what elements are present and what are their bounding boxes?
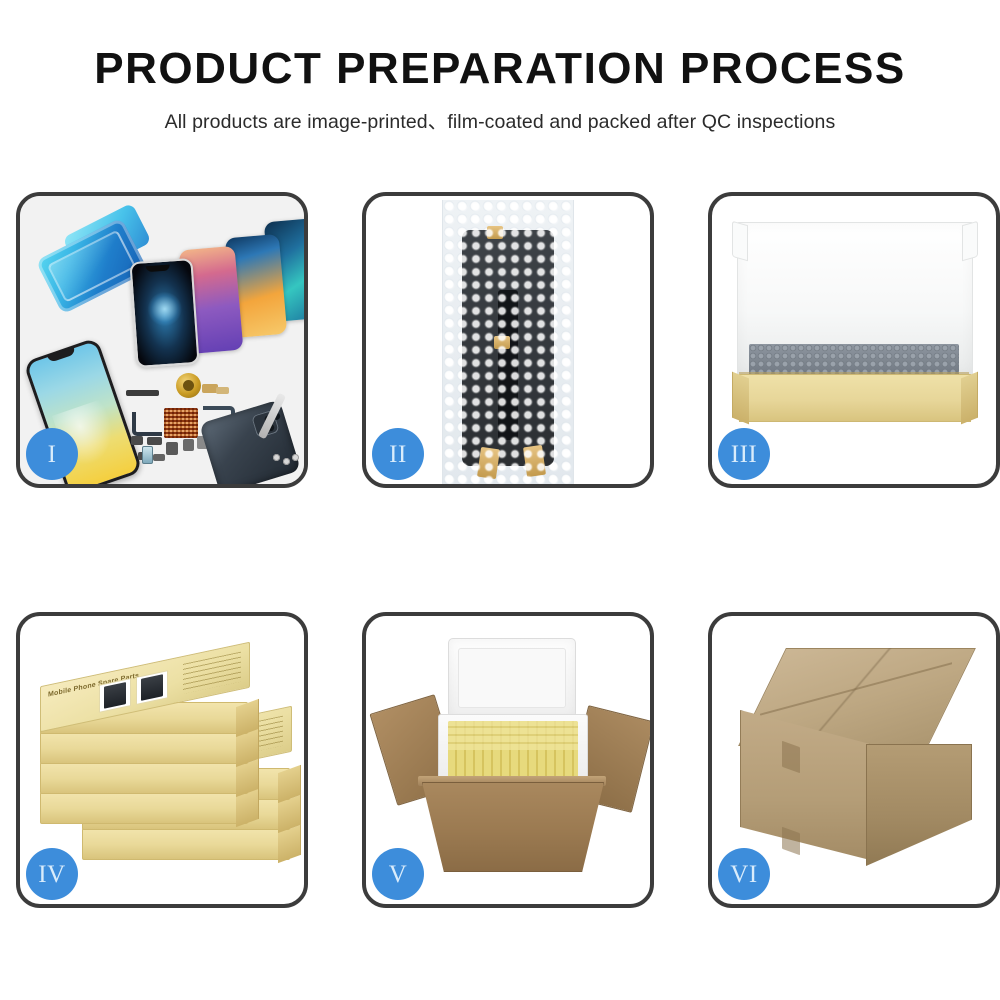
screws-group-icon [273, 454, 299, 466]
step-badge-1: I [26, 428, 78, 480]
gold-contact-icon [216, 387, 229, 394]
camera-lens-icon [142, 446, 153, 464]
stack-box-front-3 [40, 762, 248, 794]
stacked-boxes: Mobile Phone Spare Parts Mobile Phone Sp… [36, 650, 294, 876]
carton-side-face [866, 744, 972, 866]
page-title: PRODUCT PREPARATION PROCESS [0, 46, 1000, 92]
header: PRODUCT PREPARATION PROCESS All products… [0, 46, 1000, 134]
bubble-wrap-sleeve [442, 200, 574, 484]
small-component-7 [153, 454, 165, 461]
bubble-wrap-gloss [443, 200, 573, 484]
step-badge-2: II [372, 428, 424, 480]
step-badge-6: VI [718, 848, 770, 900]
page-subtitle: All products are image-printed、film-coat… [0, 105, 1000, 134]
foam-cooler-lid [448, 638, 576, 718]
kraft-tray-body [739, 374, 971, 422]
carton-with-foam-cooler [386, 638, 638, 888]
process-step-panel-2: II [362, 192, 654, 488]
stack-box-front-4 [40, 792, 248, 824]
step-badge-3: III [718, 428, 770, 480]
box-spec-lines-1 [183, 652, 241, 694]
box-window-1 [99, 678, 131, 713]
step-badge-5: V [372, 848, 424, 900]
copper-grid-chip-icon [164, 408, 198, 438]
packed-yellow-boxes [448, 721, 578, 779]
process-step-panel-3: III [708, 192, 1000, 488]
sealed-carton [738, 648, 976, 872]
product-preparation-infographic: PRODUCT PREPARATION PROCESS All products… [0, 0, 1000, 1000]
box-window-2 [136, 670, 168, 705]
small-component-4 [183, 439, 194, 451]
small-component-3 [166, 442, 178, 455]
small-component-1 [131, 436, 143, 445]
speaker-coil-icon [176, 373, 201, 398]
step-badge-4: IV [26, 848, 78, 900]
carton-body [422, 782, 604, 872]
phone-screen-dark [129, 258, 199, 368]
flex-cable-left-icon [132, 412, 162, 436]
process-step-panel-5: V [362, 612, 654, 908]
small-component-2 [147, 437, 162, 445]
stack-box-back-3 [82, 828, 290, 860]
process-step-grid: I II [16, 192, 984, 908]
antenna-strip-icon [126, 390, 159, 396]
process-step-panel-1: I [16, 192, 308, 488]
process-step-panel-4: Mobile Phone Spare Parts Mobile Phone Sp… [16, 612, 308, 908]
open-tray-box [731, 222, 977, 437]
stack-box-front-2 [40, 732, 248, 764]
process-step-panel-6: VI [708, 612, 1000, 908]
